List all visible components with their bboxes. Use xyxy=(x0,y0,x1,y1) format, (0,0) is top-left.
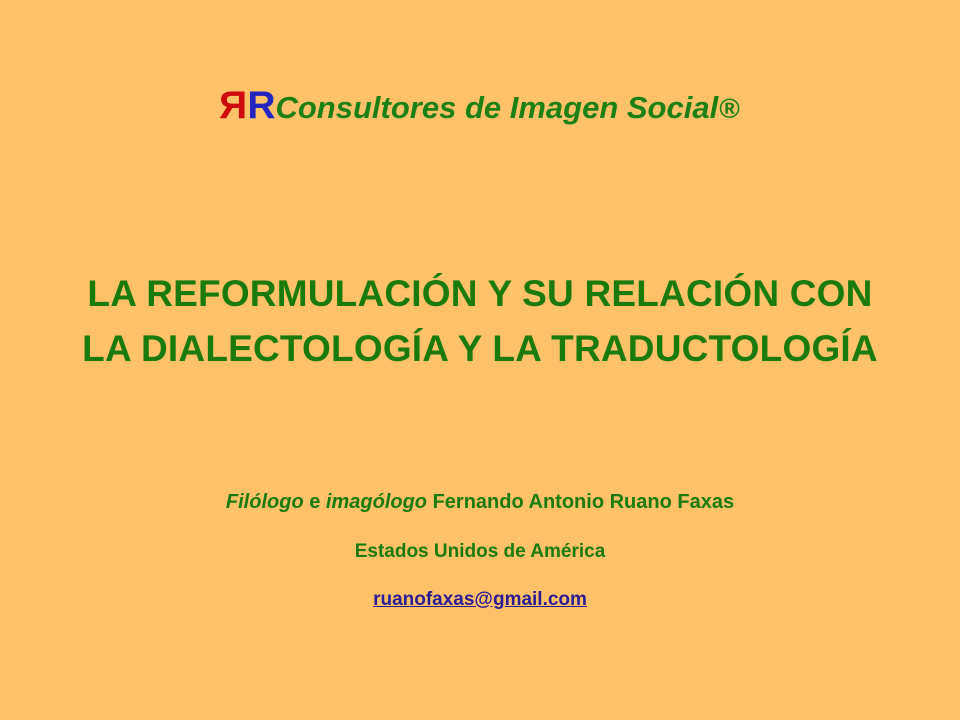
brand-logo: RRConsultores de Imagen Social® xyxy=(0,86,960,125)
title-line-1: LA REFORMULACIÓN Y SU RELACIÓN CON xyxy=(0,266,960,321)
author-country: Estados Unidos de América xyxy=(0,539,960,565)
author-role-philologist: Filólogo xyxy=(226,491,304,513)
brand-name-text: Consultores de Imagen Social xyxy=(275,90,718,125)
title-line-2: LA DIALECTOLOGÍA Y LA TRADUCTOLOGÍA xyxy=(0,321,960,376)
author-byline: Filólogo e imagólogo Fernando Antonio Ru… xyxy=(0,489,960,515)
title-slide: RRConsultores de Imagen Social® LA REFOR… xyxy=(0,0,960,720)
author-role-conjunction: e xyxy=(309,491,320,513)
author-block: Filólogo e imagólogo Fernando Antonio Ru… xyxy=(0,489,960,614)
author-role-imagologist: imagólogo xyxy=(326,491,427,513)
mirrored-r-letter-icon: R xyxy=(220,86,247,125)
r-letter-icon: R xyxy=(247,84,274,127)
page-title: LA REFORMULACIÓN Y SU RELACIÓN CON LA DI… xyxy=(0,266,960,376)
registered-trademark-icon: ® xyxy=(719,95,740,123)
brand-monogram: RR xyxy=(220,84,274,127)
author-name: Fernando Antonio Ruano Faxas xyxy=(433,491,735,513)
contact-email-link[interactable]: ruanofaxas@gmail.com xyxy=(373,589,587,610)
contact-email-row: ruanofaxas@gmail.com xyxy=(0,587,960,614)
